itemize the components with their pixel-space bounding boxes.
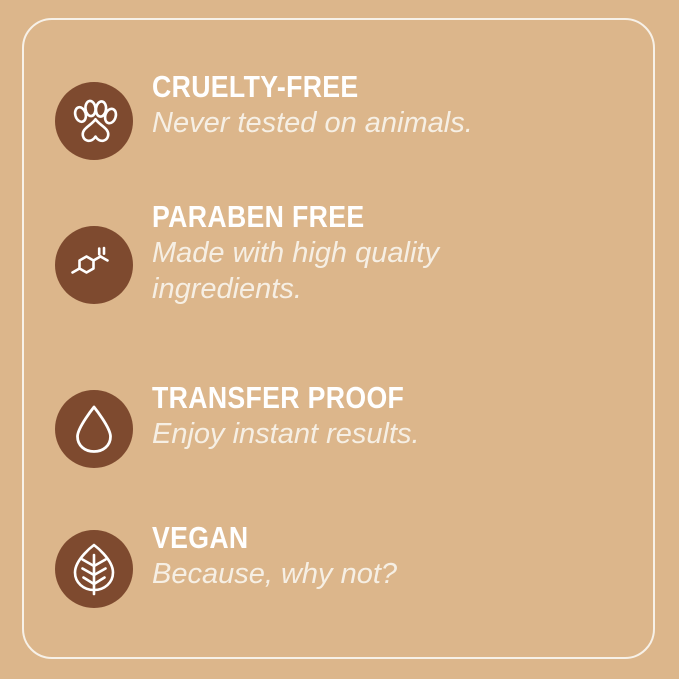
leaf-icon — [55, 530, 133, 608]
molecule-icon — [55, 226, 133, 304]
feature-item-cruelty-free: CRUELTY-FREE Never tested on animals. — [55, 82, 473, 160]
feature-subtitle: Because, why not? — [152, 557, 397, 592]
feature-heading: VEGAN — [152, 523, 363, 553]
feature-subtitle: Made with high quality ingredients. — [152, 236, 439, 307]
feature-heading: TRANSFER PROOF — [152, 383, 404, 413]
paw-print-icon — [55, 82, 133, 160]
feature-heading: PARABEN FREE — [152, 202, 399, 232]
feature-subtitle: Enjoy instant results. — [152, 417, 445, 452]
feature-item-transfer-proof: TRANSFER PROOF Enjoy instant results. — [55, 390, 445, 468]
feature-heading: CRUELTY-FREE — [152, 72, 428, 102]
feature-item-paraben-free: PARABEN FREE Made with high quality ingr… — [55, 226, 439, 307]
feature-item-vegan: VEGAN Because, why not? — [55, 530, 397, 608]
feature-list: CRUELTY-FREE Never tested on animals. PA… — [0, 0, 679, 679]
feature-text-block: VEGAN Because, why not? — [152, 521, 397, 593]
feature-text-block: TRANSFER PROOF Enjoy instant results. — [152, 381, 445, 453]
feature-text-block: CRUELTY-FREE Never tested on animals. — [152, 70, 473, 142]
water-droplet-icon — [55, 390, 133, 468]
feature-text-block: PARABEN FREE Made with high quality ingr… — [152, 200, 439, 307]
feature-subtitle: Never tested on animals. — [152, 106, 473, 141]
